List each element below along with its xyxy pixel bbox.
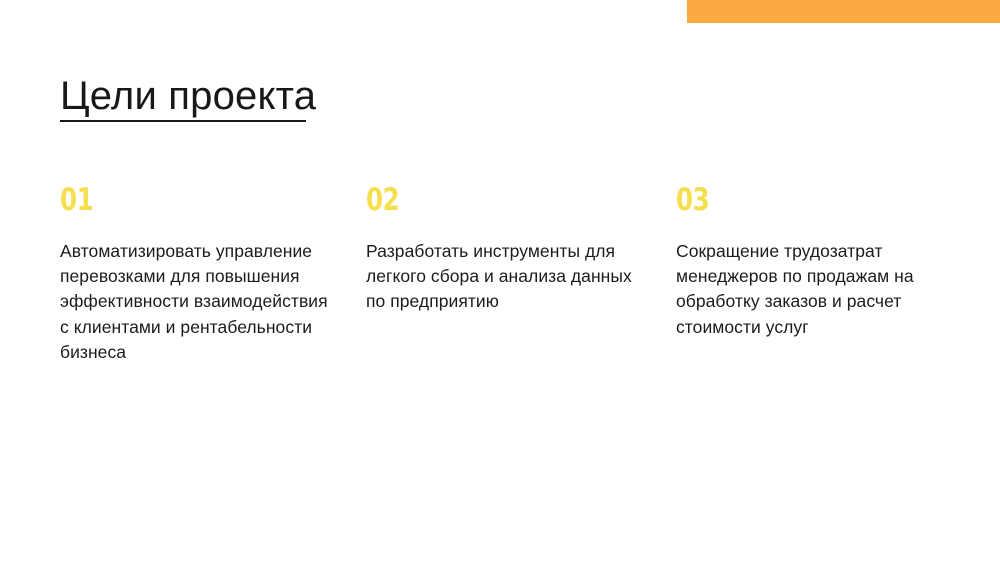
slide-title-block: Цели проекта: [60, 74, 316, 122]
goal-number-03: 03: [676, 183, 931, 217]
accent-bar-decoration: [687, 0, 1000, 23]
goal-column-01: 01 Автоматизировать управление перевозка…: [60, 183, 328, 365]
goal-column-02: 02 Разработать инструменты для легкого с…: [366, 183, 641, 315]
goal-column-03: 03 Сокращение трудозатрат менеджеров по …: [676, 183, 966, 340]
goal-text-01: Автоматизировать управление перевозками …: [60, 239, 328, 365]
page-title: Цели проекта: [60, 74, 316, 118]
title-underline-rule: [60, 120, 306, 122]
goal-text-02: Разработать инструменты для легкого сбор…: [366, 239, 641, 315]
goal-number-02: 02: [366, 183, 608, 217]
goal-number-01: 01: [60, 183, 296, 217]
goal-text-03: Сокращение трудозатрат менеджеров по про…: [676, 239, 966, 340]
presentation-slide: Цели проекта 01 Автоматизировать управле…: [0, 0, 1000, 562]
